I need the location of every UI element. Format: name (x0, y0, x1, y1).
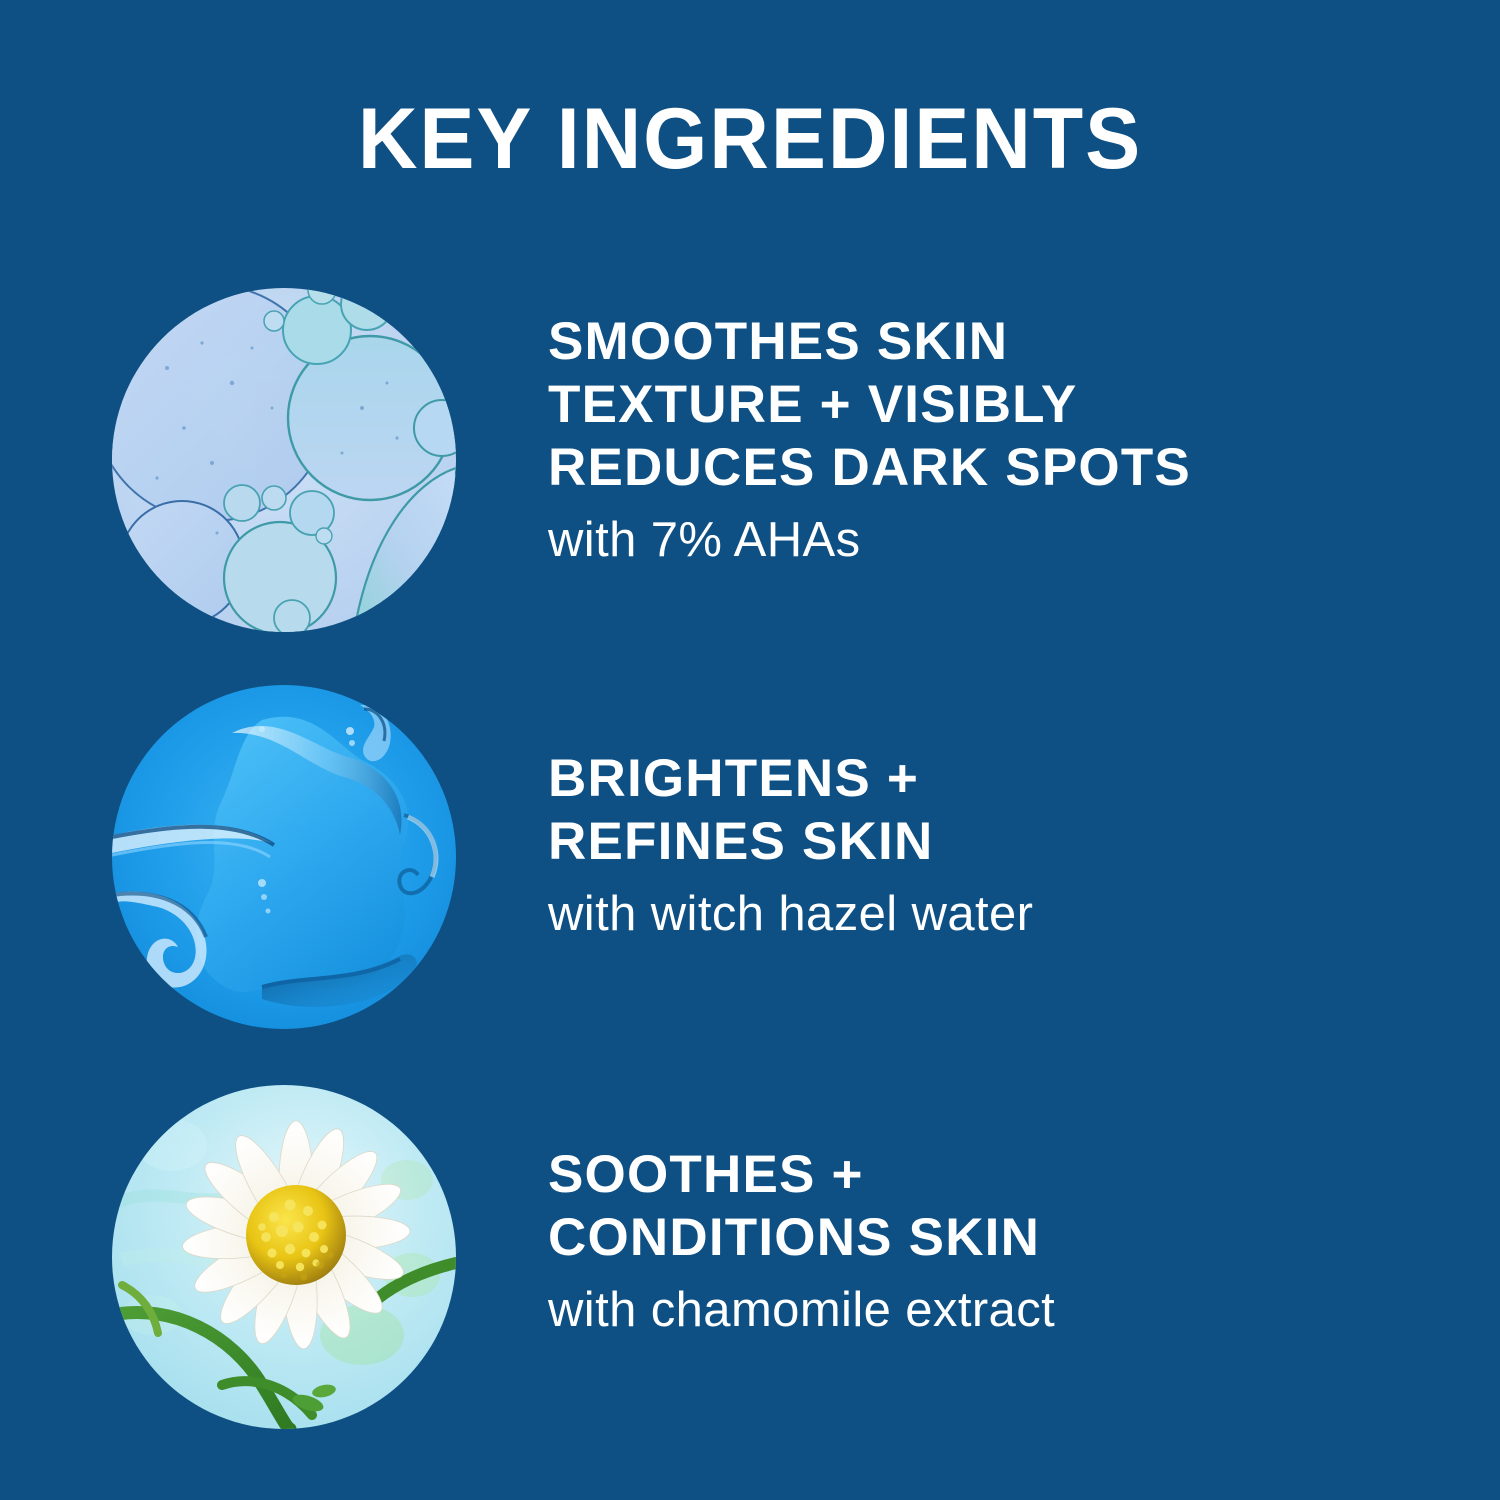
ingredient-headline: SOOTHES + CONDITIONS SKIN (548, 1143, 1368, 1269)
blue-gel-texture-image (112, 685, 456, 1029)
ingredient-row: SOOTHES + CONDITIONS SKIN with chamomile… (0, 1085, 1500, 1429)
ingredient-copy: SOOTHES + CONDITIONS SKIN with chamomile… (548, 1143, 1368, 1339)
ingredient-row: BRIGHTENS + REFINES SKIN with witch haze… (0, 685, 1500, 1029)
ingredient-headline: BRIGHTENS + REFINES SKIN (548, 747, 1368, 873)
ingredient-subline: with 7% AHAs (548, 511, 1368, 569)
chamomile-flower-image (112, 1085, 456, 1429)
ingredient-copy: BRIGHTENS + REFINES SKIN with witch haze… (548, 747, 1368, 943)
ingredient-row: SMOOTHES SKIN TEXTURE + VISIBLY REDUCES … (0, 288, 1500, 632)
ingredient-subline: with witch hazel water (548, 885, 1368, 943)
ingredient-copy: SMOOTHES SKIN TEXTURE + VISIBLY REDUCES … (548, 310, 1368, 569)
page-title: KEY INGREDIENTS (30, 96, 1470, 182)
ingredient-subline: with chamomile extract (548, 1281, 1368, 1339)
bubbles-macro-image (112, 288, 456, 632)
key-ingredients-panel: KEY INGREDIENTS (0, 0, 1500, 1500)
ingredient-headline: SMOOTHES SKIN TEXTURE + VISIBLY REDUCES … (548, 310, 1368, 499)
